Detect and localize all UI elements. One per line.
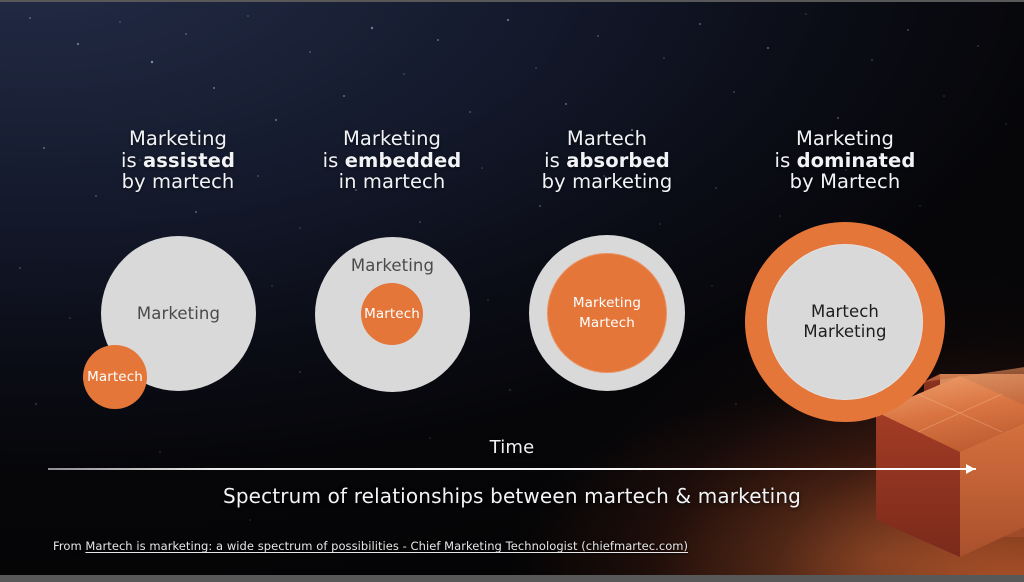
diagram-embedded-marketing-label: Marketing xyxy=(315,256,470,276)
diagram-embedded-martech-circle: Martech xyxy=(361,283,423,345)
heading-absorbed-line1: Martech xyxy=(507,128,707,150)
diagram-dominated-label-line2: Marketing xyxy=(803,322,886,342)
timeline-arrow-line xyxy=(48,468,976,470)
diagram-dominated-inner-circle: Martech Marketing xyxy=(767,244,923,400)
timeline-caption: Spectrum of relationships between martec… xyxy=(0,484,1024,508)
heading-assisted-line3: by martech xyxy=(78,171,278,193)
slide-canvas: Marketing is assisted by martech Marketi… xyxy=(0,0,1024,582)
slide-bottom-edge xyxy=(0,575,1024,582)
heading-embedded: Marketing is embedded in martech xyxy=(292,128,492,193)
timeline-arrow-head xyxy=(966,464,975,474)
heading-dominated: Marketing is dominated by Martech xyxy=(745,128,945,193)
slide-top-edge xyxy=(0,0,1024,2)
heading-assisted-line2: is assisted xyxy=(78,150,278,172)
source-prefix: From xyxy=(53,539,85,553)
timeline-axis-label: Time xyxy=(0,437,1024,458)
diagram-absorbed-merged-circle: Marketing Martech xyxy=(547,253,667,373)
source-link[interactable]: Martech is marketing: a wide spectrum of… xyxy=(85,539,688,553)
heading-absorbed-line2: is absorbed xyxy=(507,150,707,172)
diagram-assisted-martech-label: Martech xyxy=(87,367,143,387)
heading-absorbed-line3: by marketing xyxy=(507,171,707,193)
diagram-assisted-martech-circle: Martech xyxy=(83,345,147,409)
heading-embedded-line2: is embedded xyxy=(292,150,492,172)
heading-absorbed: Martech is absorbed by marketing xyxy=(507,128,707,193)
heading-embedded-line1: Marketing xyxy=(292,128,492,150)
diagram-dominated-label-line1: Martech xyxy=(811,302,879,322)
diagram-assisted-marketing-label: Marketing xyxy=(137,304,220,324)
diagram-embedded-martech-label: Martech xyxy=(364,304,420,324)
diagram-absorbed-label-line2: Martech xyxy=(579,313,635,333)
source-attribution: From Martech is marketing: a wide spectr… xyxy=(53,539,688,553)
heading-assisted-line1: Marketing xyxy=(78,128,278,150)
heading-assisted: Marketing is assisted by martech xyxy=(78,128,278,193)
heading-dominated-line2: is dominated xyxy=(745,150,945,172)
heading-dominated-line1: Marketing xyxy=(745,128,945,150)
diagram-absorbed-label-line1: Marketing xyxy=(573,293,641,313)
heading-embedded-line3: in martech xyxy=(292,171,492,193)
heading-dominated-line3: by Martech xyxy=(745,171,945,193)
